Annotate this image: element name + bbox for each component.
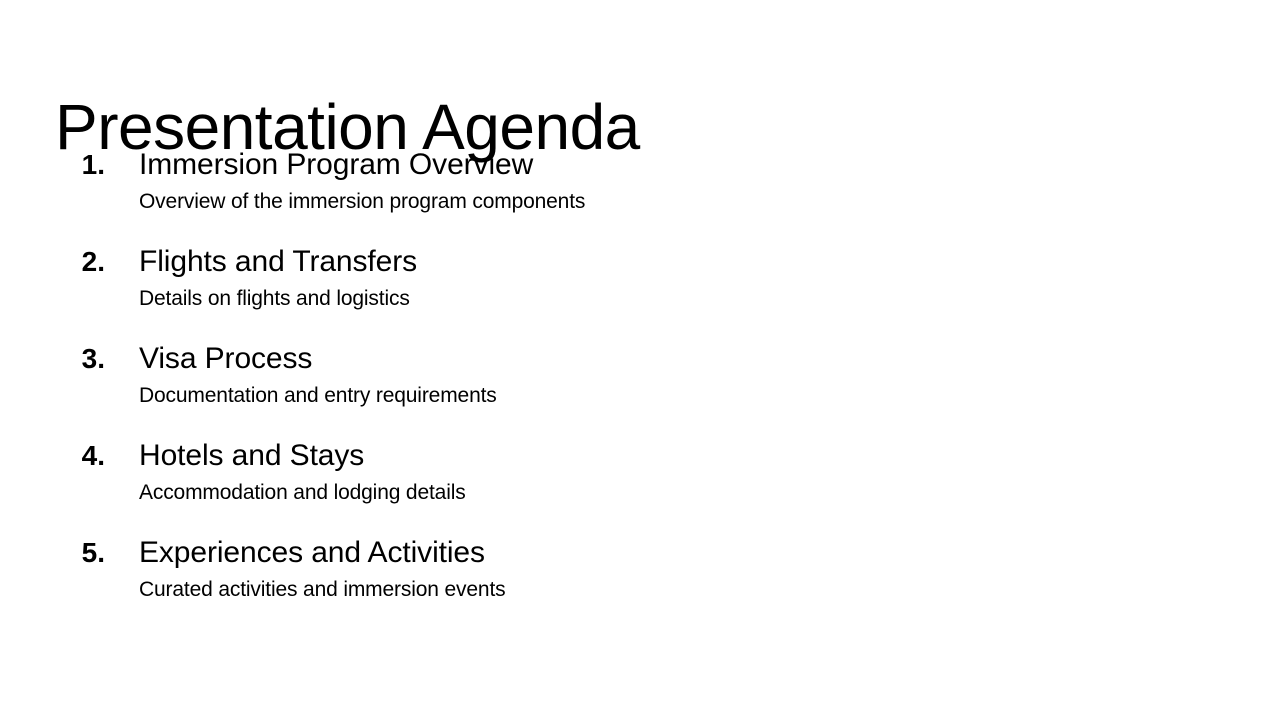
list-item-number: 3. — [0, 337, 105, 380]
list-item-subtitle: Overview of the immersion program compon… — [139, 186, 1280, 217]
list-item-number: 2. — [0, 240, 105, 283]
agenda-list: 1. Immersion Program Overview Overview o… — [0, 143, 1280, 628]
presentation-slide: Presentation Agenda 1. Immersion Program… — [0, 0, 1280, 720]
list-item[interactable]: 5. Experiences and Activities Curated ac… — [0, 531, 1280, 628]
list-item-title: Flights and Transfers — [139, 240, 1280, 283]
list-item[interactable]: 1. Immersion Program Overview Overview o… — [0, 143, 1280, 240]
list-item-number: 1. — [0, 143, 105, 186]
list-item-subtitle: Details on flights and logistics — [139, 283, 1280, 314]
list-item-title: Immersion Program Overview — [139, 143, 1280, 186]
list-item-number: 5. — [0, 531, 105, 574]
list-item-subtitle: Accommodation and lodging details — [139, 477, 1280, 508]
list-item-title: Visa Process — [139, 337, 1280, 380]
list-item-body: Immersion Program Overview Overview of t… — [139, 143, 1280, 217]
list-item-body: Experiences and Activities Curated activ… — [139, 531, 1280, 605]
list-item-subtitle: Documentation and entry requirements — [139, 380, 1280, 411]
list-item-subtitle: Curated activities and immersion events — [139, 574, 1280, 605]
list-item-title: Hotels and Stays — [139, 434, 1280, 477]
list-item[interactable]: 3. Visa Process Documentation and entry … — [0, 337, 1280, 434]
list-item[interactable]: 2. Flights and Transfers Details on flig… — [0, 240, 1280, 337]
list-item[interactable]: 4. Hotels and Stays Accommodation and lo… — [0, 434, 1280, 531]
list-item-body: Flights and Transfers Details on flights… — [139, 240, 1280, 314]
list-item-body: Visa Process Documentation and entry req… — [139, 337, 1280, 411]
list-item-title: Experiences and Activities — [139, 531, 1280, 574]
list-item-body: Hotels and Stays Accommodation and lodgi… — [139, 434, 1280, 508]
list-item-number: 4. — [0, 434, 105, 477]
